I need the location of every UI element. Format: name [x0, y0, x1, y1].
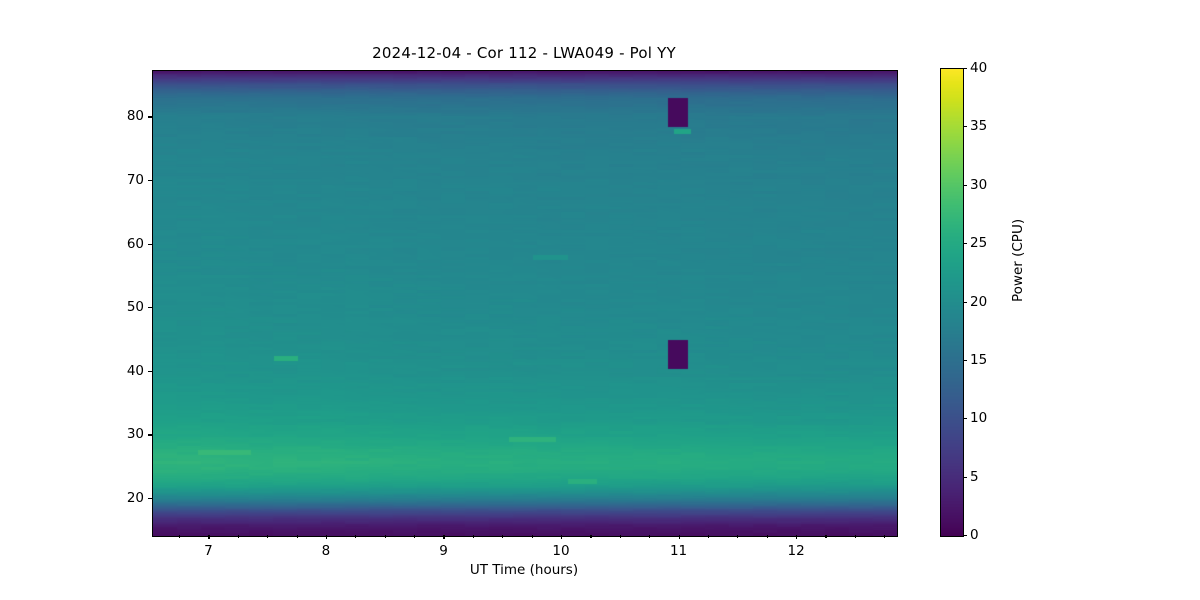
colorbar-gradient [941, 69, 963, 536]
colorbar-tick-mark [963, 185, 967, 186]
y-tick-mark [148, 434, 152, 435]
x-tick-mark [326, 535, 327, 539]
x-tick-mark [679, 535, 680, 539]
y-tick-mark [148, 307, 152, 308]
y-tick-label: 20 [127, 490, 144, 506]
y-tick-label: 30 [127, 426, 144, 442]
x-tick-label: 12 [788, 543, 805, 559]
y-tick-label: 70 [127, 172, 144, 188]
x-axis-label: UT Time (hours) [470, 562, 578, 578]
y-tick-mark [148, 371, 152, 372]
spectrogram-image[interactable] [153, 71, 897, 536]
colorbar-tick-label: 5 [970, 469, 979, 485]
x-minor-tick-mark [855, 535, 856, 538]
y-tick-mark [148, 180, 152, 181]
x-minor-tick-mark [355, 535, 356, 538]
y-tick-label: 60 [127, 236, 144, 252]
colorbar-tick-label: 30 [970, 177, 987, 193]
x-minor-tick-mark [414, 535, 415, 538]
x-minor-tick-mark [590, 535, 591, 538]
colorbar-tick-mark [963, 477, 967, 478]
x-tick-label: 11 [670, 543, 687, 559]
x-tick-label: 8 [322, 543, 331, 559]
colorbar-tick-label: 0 [970, 527, 979, 543]
colorbar-tick-label: 15 [970, 352, 987, 368]
x-minor-tick-mark [385, 535, 386, 538]
colorbar-tick-label: 40 [970, 60, 987, 76]
x-minor-tick-mark [737, 535, 738, 538]
x-minor-tick-mark [297, 535, 298, 538]
colorbar-tick-label: 20 [970, 294, 987, 310]
x-tick-mark [561, 535, 562, 539]
x-minor-tick-mark [238, 535, 239, 538]
spectrogram-figure: 2024-12-04 - Cor 112 - LWA049 - Pol YY 2… [0, 0, 1200, 600]
x-minor-tick-mark [179, 535, 180, 538]
colorbar-tick-mark [963, 418, 967, 419]
x-minor-tick-mark [649, 535, 650, 538]
x-minor-tick-mark [473, 535, 474, 538]
x-minor-tick-mark [502, 535, 503, 538]
x-tick-mark [208, 535, 209, 539]
x-minor-tick-mark [767, 535, 768, 538]
colorbar-tick-mark [963, 360, 967, 361]
x-tick-label: 9 [439, 543, 448, 559]
x-minor-tick-mark [708, 535, 709, 538]
y-tick-mark [148, 116, 152, 117]
y-tick-mark [148, 498, 152, 499]
colorbar-tick-mark [963, 68, 967, 69]
x-minor-tick-mark [267, 535, 268, 538]
x-tick-mark [443, 535, 444, 539]
spectrogram-axes[interactable] [152, 70, 898, 537]
x-tick-mark [796, 535, 797, 539]
colorbar[interactable] [940, 68, 964, 537]
colorbar-tick-label: 10 [970, 410, 987, 426]
colorbar-tick-mark [963, 126, 967, 127]
y-tick-label: 50 [127, 299, 144, 315]
colorbar-label: Power (CPU) [1010, 219, 1026, 302]
x-minor-tick-mark [620, 535, 621, 538]
x-minor-tick-mark [532, 535, 533, 538]
colorbar-tick-label: 35 [970, 118, 987, 134]
y-tick-label: 80 [127, 108, 144, 124]
colorbar-tick-mark [963, 535, 967, 536]
page-title: 2024-12-04 - Cor 112 - LWA049 - Pol YY [0, 44, 1048, 62]
x-minor-tick-mark [884, 535, 885, 538]
colorbar-tick-label: 25 [970, 235, 987, 251]
colorbar-tick-mark [963, 302, 967, 303]
y-tick-label: 40 [127, 363, 144, 379]
x-tick-label: 7 [204, 543, 213, 559]
y-tick-mark [148, 244, 152, 245]
x-minor-tick-mark [825, 535, 826, 538]
x-tick-label: 10 [552, 543, 569, 559]
colorbar-tick-mark [963, 243, 967, 244]
